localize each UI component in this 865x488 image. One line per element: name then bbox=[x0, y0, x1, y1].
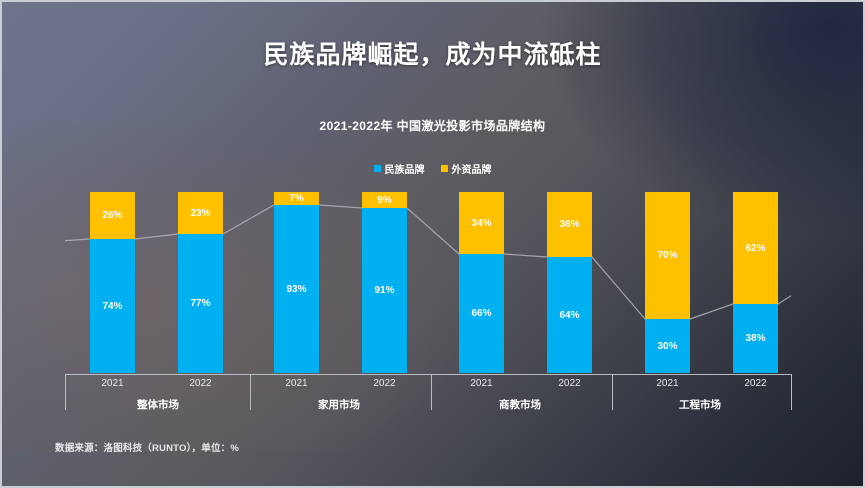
stacked-bar[interactable]: 23%77% bbox=[178, 192, 223, 373]
axis-year-label: 2021 bbox=[452, 378, 512, 389]
axis-group-label: 整体市场 bbox=[68, 397, 248, 412]
bar-segment-foreign[interactable]: 23% bbox=[178, 192, 223, 234]
bar-segment-foreign[interactable]: 7% bbox=[274, 192, 319, 205]
axis-group-label: 家用市场 bbox=[249, 397, 429, 412]
chart-plot-area: 26%74%23%77%7%93%9%91%34%66%36%64%70%30%… bbox=[2, 2, 865, 488]
bar-segment-foreign[interactable]: 26% bbox=[90, 192, 135, 239]
bar-segment-domestic[interactable]: 64% bbox=[547, 257, 592, 373]
axis-group-label: 商教市场 bbox=[430, 397, 610, 412]
axis-year-label: 2022 bbox=[171, 378, 231, 389]
stacked-bar[interactable]: 7%93% bbox=[274, 192, 319, 373]
bar-segment-foreign[interactable]: 34% bbox=[459, 192, 504, 254]
bar-segment-domestic[interactable]: 30% bbox=[645, 319, 690, 373]
axis-baseline bbox=[65, 374, 791, 375]
bar-segment-domestic[interactable]: 66% bbox=[459, 254, 504, 373]
axis-year-label: 2022 bbox=[540, 378, 600, 389]
slide-canvas: 民族品牌崛起，成为中流砥柱 2021-2022年 中国激光投影市场品牌结构 民族… bbox=[0, 0, 865, 488]
axis-edge-left bbox=[65, 374, 66, 410]
bar-segment-foreign[interactable]: 36% bbox=[547, 192, 592, 257]
axis-edge-right bbox=[791, 374, 792, 410]
stacked-bar[interactable]: 70%30% bbox=[645, 192, 690, 373]
bar-segment-domestic[interactable]: 77% bbox=[178, 234, 223, 373]
axis-year-label: 2021 bbox=[267, 378, 327, 389]
bar-segment-foreign[interactable]: 9% bbox=[362, 192, 407, 208]
axis-year-label: 2021 bbox=[638, 378, 698, 389]
bar-segment-domestic[interactable]: 93% bbox=[274, 205, 319, 373]
bar-segment-foreign[interactable]: 70% bbox=[645, 192, 690, 319]
stacked-bar[interactable]: 34%66% bbox=[459, 192, 504, 373]
axis-group-label: 工程市场 bbox=[610, 397, 790, 412]
stacked-bar[interactable]: 62%38% bbox=[733, 192, 778, 373]
bar-segment-domestic[interactable]: 91% bbox=[362, 208, 407, 373]
axis-year-label: 2021 bbox=[83, 378, 143, 389]
stacked-bar[interactable]: 36%64% bbox=[547, 192, 592, 373]
stacked-bar[interactable]: 9%91% bbox=[362, 192, 407, 373]
stacked-bar[interactable]: 26%74% bbox=[90, 192, 135, 373]
axis-year-label: 2022 bbox=[355, 378, 415, 389]
bar-segment-foreign[interactable]: 62% bbox=[733, 192, 778, 304]
source-note: 数据来源：洛图科技（RUNTO），单位：% bbox=[55, 440, 239, 454]
bar-segment-domestic[interactable]: 74% bbox=[90, 239, 135, 373]
axis-year-label: 2022 bbox=[726, 378, 786, 389]
bar-segment-domestic[interactable]: 38% bbox=[733, 304, 778, 373]
